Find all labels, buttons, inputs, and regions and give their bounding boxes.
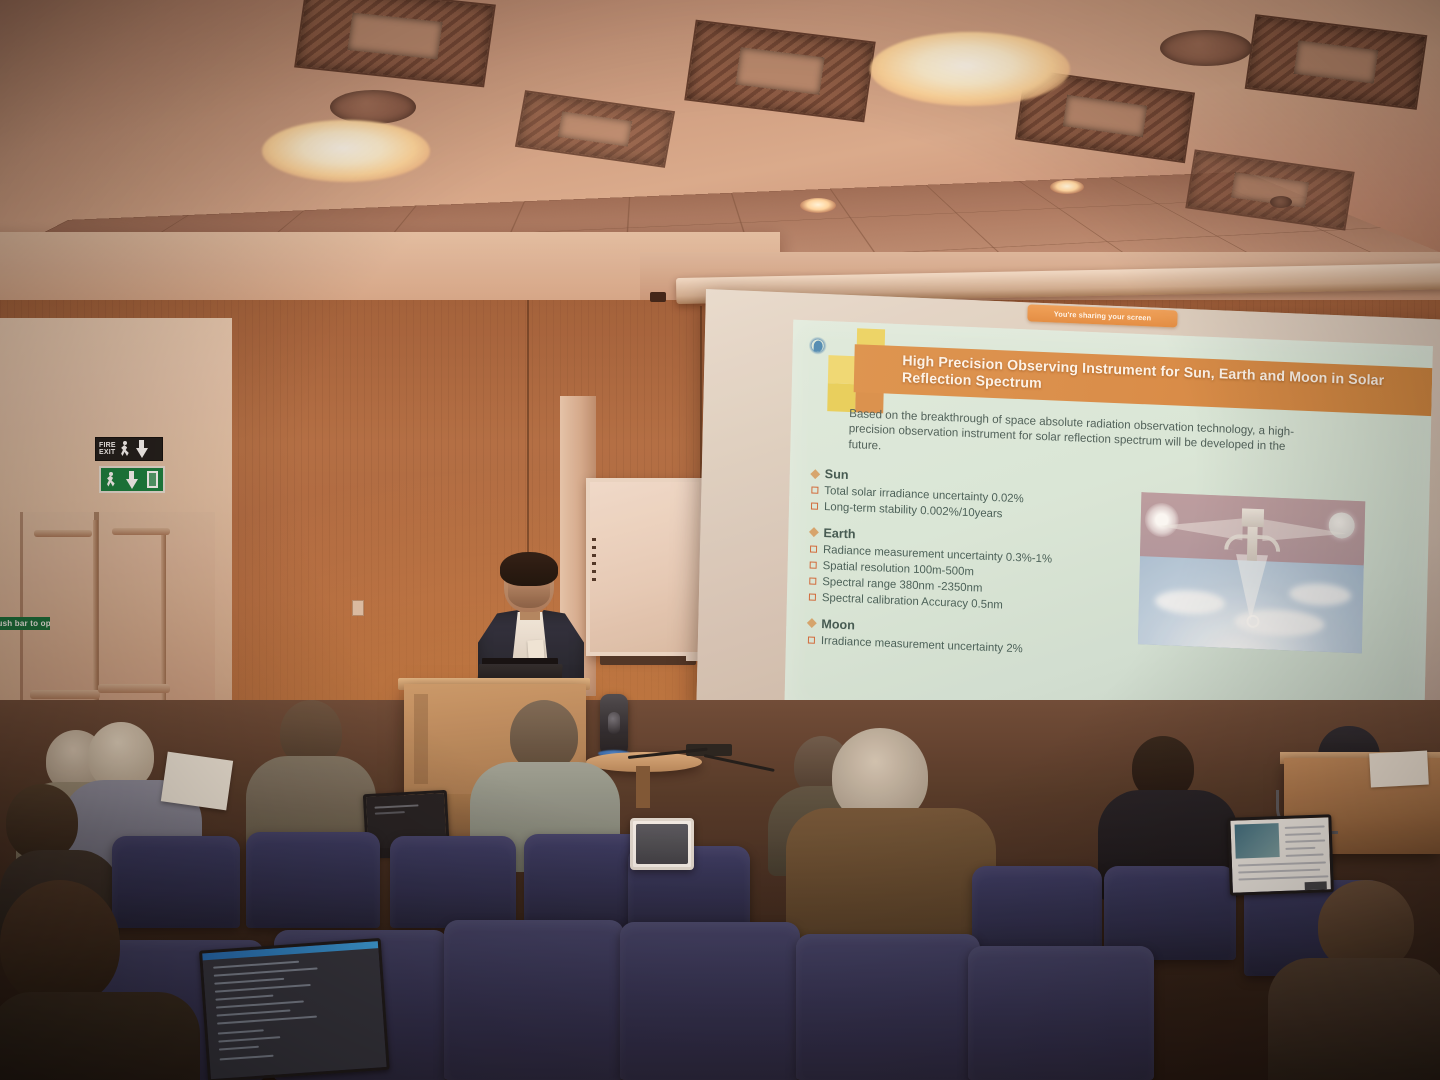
diamond-bullet-icon bbox=[810, 469, 820, 479]
emergency-exit-sign bbox=[99, 466, 165, 493]
recessed-downlight bbox=[1050, 180, 1084, 194]
slide-section-moon: Moon Irradiance measurement uncertainty … bbox=[808, 616, 1129, 661]
whiteboard-magnets bbox=[592, 538, 596, 584]
hvac-diffuser bbox=[294, 0, 496, 87]
audience-member-foreground bbox=[0, 880, 200, 1080]
auditorium-seat[interactable] bbox=[972, 866, 1102, 958]
audience-laptop-foreground[interactable] bbox=[199, 938, 390, 1080]
ceiling-light-panel bbox=[870, 32, 1070, 106]
square-bullet-icon bbox=[810, 545, 817, 552]
fire-exit-sign: FIRE EXIT bbox=[95, 437, 163, 461]
ceiling-speaker bbox=[1160, 30, 1252, 66]
door-push-bar[interactable] bbox=[98, 684, 170, 693]
exit-door-icon bbox=[147, 471, 158, 488]
ceiling-sensor bbox=[1270, 196, 1292, 208]
satellite-column bbox=[1247, 527, 1258, 561]
section-heading: Moon bbox=[821, 617, 855, 632]
square-bullet-icon bbox=[809, 577, 816, 584]
square-bullet-icon bbox=[811, 486, 818, 493]
slide-title-bar: High Precision Observing Instrument for … bbox=[854, 344, 1433, 416]
auditorium-seat[interactable] bbox=[246, 832, 380, 928]
satellite-body bbox=[1242, 508, 1264, 527]
slide-section-sun: Sun Total solar irradiance uncertainty 0… bbox=[811, 467, 1132, 528]
institute-logo-icon bbox=[806, 334, 828, 357]
handout-paper bbox=[161, 752, 233, 811]
square-bullet-icon bbox=[811, 503, 818, 510]
audience-tablet[interactable] bbox=[630, 818, 694, 870]
slide-title: High Precision Observing Instrument for … bbox=[902, 353, 1432, 410]
diamond-bullet-icon bbox=[807, 618, 817, 628]
projection-screen: High Precision Observing Instrument for … bbox=[696, 289, 1440, 740]
auditorium-seat[interactable] bbox=[796, 934, 980, 1080]
head bbox=[0, 880, 120, 1006]
audience-member bbox=[1268, 880, 1440, 1080]
presenter-hair bbox=[500, 552, 558, 586]
slide-bullet-list: Sun Total solar irradiance uncertainty 0… bbox=[808, 467, 1132, 672]
door-closer bbox=[112, 528, 170, 535]
door-push-bar[interactable] bbox=[30, 690, 100, 699]
slide-section-earth: Earth Radiance measurement uncertainty 0… bbox=[809, 525, 1131, 618]
earth-view-cone bbox=[1235, 554, 1268, 621]
auditorium-seat[interactable] bbox=[968, 946, 1154, 1080]
audience-member bbox=[786, 728, 996, 928]
head bbox=[6, 784, 78, 860]
square-bullet-icon bbox=[810, 561, 817, 568]
slide-intro-text: Based on the breakthrough of space absol… bbox=[848, 406, 1321, 472]
whiteboard-pen-tray bbox=[600, 656, 696, 665]
running-man-icon bbox=[106, 472, 117, 488]
hvac-diffuser bbox=[515, 90, 675, 168]
fire-exit-line2: EXIT bbox=[99, 449, 116, 457]
earth-target-marker bbox=[1246, 615, 1259, 629]
paper-sheet bbox=[1369, 751, 1429, 788]
ir-sensor bbox=[650, 292, 666, 302]
whiteboard bbox=[586, 478, 703, 656]
presentation-slide: High Precision Observing Instrument for … bbox=[784, 320, 1433, 740]
section-heading: Earth bbox=[823, 526, 856, 541]
push-bar-label: Push bar to open bbox=[0, 617, 50, 630]
auditorium-seat[interactable] bbox=[390, 836, 516, 928]
auditorium-seat[interactable] bbox=[620, 922, 800, 1080]
satellite-observation-figure bbox=[1138, 492, 1365, 653]
ceiling-speaker bbox=[330, 90, 416, 124]
recessed-downlight bbox=[800, 198, 836, 213]
running-man-icon bbox=[120, 441, 131, 457]
hvac-diffuser bbox=[1245, 14, 1428, 110]
torso bbox=[0, 992, 200, 1080]
logo-block bbox=[828, 355, 857, 384]
wall-switch-plate[interactable] bbox=[352, 600, 364, 616]
lecture-theatre-photo: FIRE EXIT Push bar to open Push bar to o… bbox=[0, 0, 1440, 1080]
audience-member bbox=[246, 700, 376, 840]
diamond-bullet-icon bbox=[809, 527, 819, 537]
square-bullet-icon bbox=[808, 636, 815, 643]
ceiling-light-panel bbox=[262, 120, 430, 182]
section-heading: Sun bbox=[825, 467, 849, 482]
torso bbox=[1268, 958, 1440, 1080]
fire-exit-line1: FIRE bbox=[99, 442, 116, 450]
door-closer bbox=[34, 530, 92, 537]
torso bbox=[786, 808, 996, 948]
hvac-diffuser bbox=[684, 20, 876, 123]
square-bullet-icon bbox=[809, 593, 816, 600]
auditorium-seat[interactable] bbox=[444, 920, 624, 1080]
